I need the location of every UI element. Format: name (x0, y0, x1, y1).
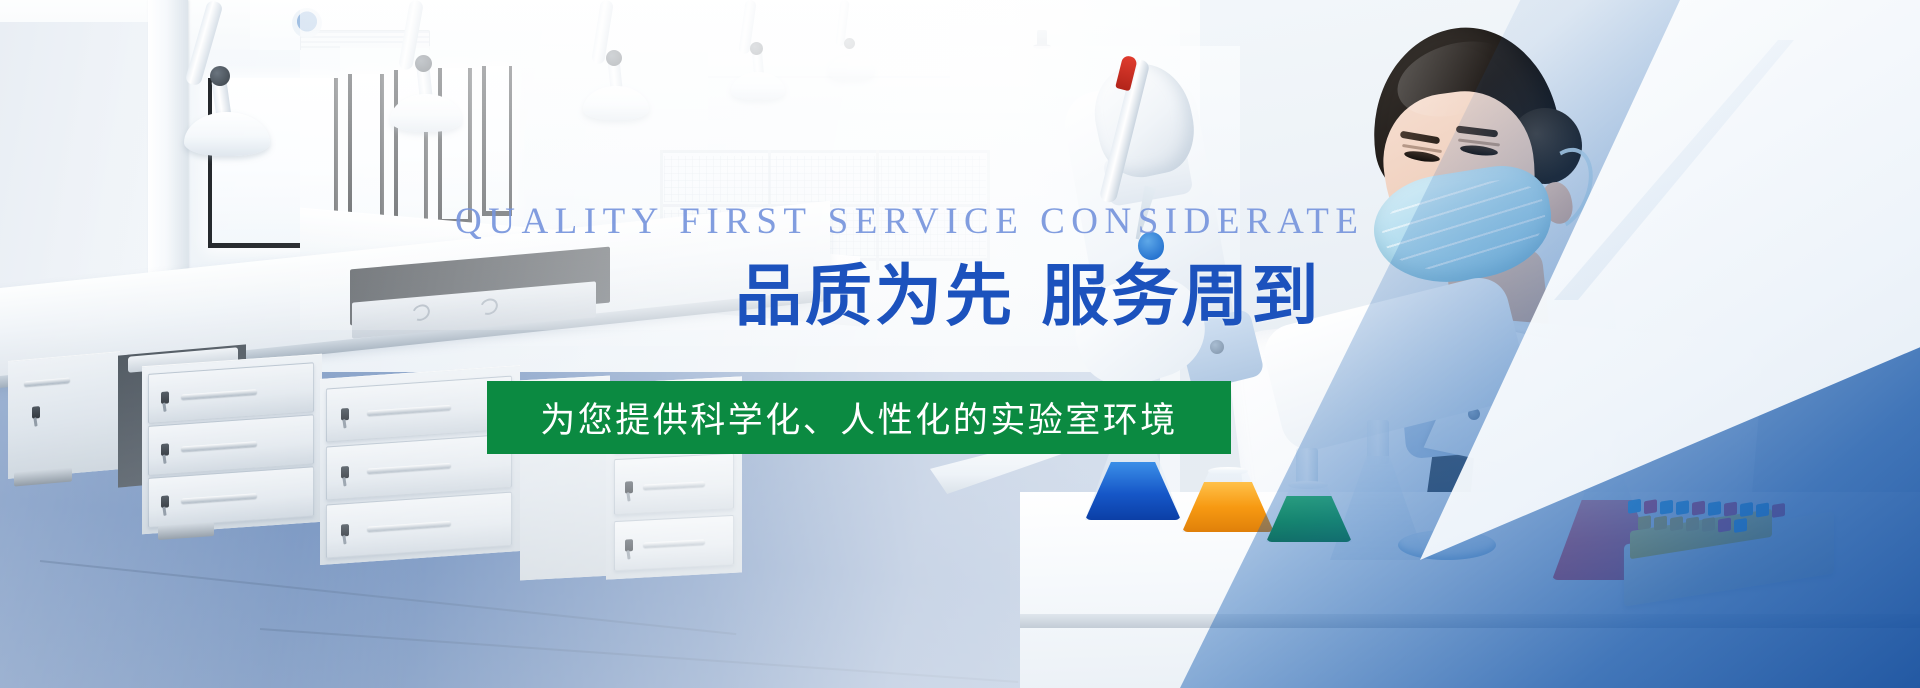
subtitle-green-bar: 为您提供科学化、人性化的实验室环境 (487, 381, 1231, 454)
banner-text-block: QUALITY FIRST SERVICE CONSIDERATE 品质为先 服… (0, 0, 1920, 688)
subtitle-text: 为您提供科学化、人性化的实验室环境 (540, 392, 1178, 443)
headline-chinese: 品质为先 服务周到 (735, 242, 1321, 339)
tagline-english: QUALITY FIRST SERVICE CONSIDERATE (455, 200, 1035, 243)
promo-banner: QUALITY FIRST SERVICE CONSIDERATE 品质为先 服… (0, 0, 1920, 688)
